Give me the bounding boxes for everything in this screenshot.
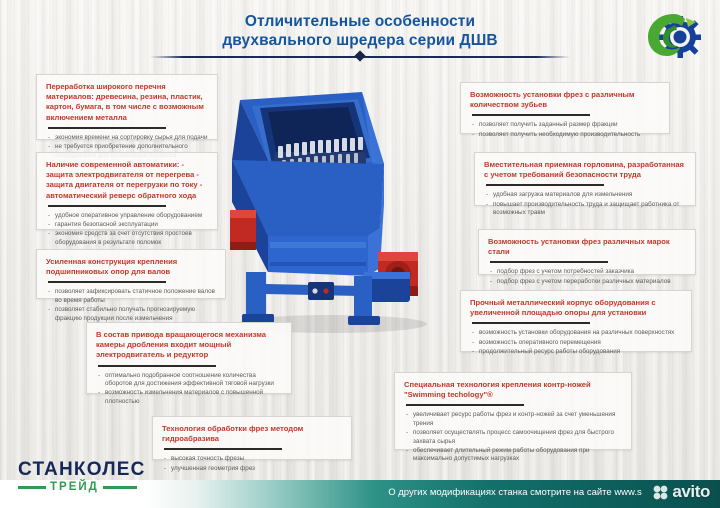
feature-heading: Технология обработки фрез методом гидроа…	[162, 424, 342, 444]
list-item: позволяет зафиксировать статичное положе…	[46, 288, 216, 305]
company-logo: СТАНКОЛЕС ТРЕЙД	[18, 460, 218, 500]
heading-underline	[472, 322, 590, 324]
company-subtitle-row: ТРЕЙД	[18, 481, 218, 493]
feature-bullet-list: подбор фрез с учетом потребностей заказч…	[488, 268, 686, 286]
footer-website-note: О других модификациях станка смотрите на…	[330, 486, 700, 500]
feature-heading: В состав привода вращающегося механизма …	[96, 330, 282, 361]
twin-shaft-shredder-illustration	[212, 86, 452, 336]
page-title-line1: Отличительные особенности	[140, 12, 580, 31]
feature-heading: Вместительная приемная горловина, разраб…	[484, 160, 686, 180]
heading-underline	[406, 404, 524, 406]
feature-heading: Усиленная конструкция крепления подшипни…	[46, 257, 216, 277]
list-item: гарантия безопасной эксплуатации	[46, 221, 208, 230]
feature-box-bearings: Усиленная конструкция крепления подшипни…	[36, 249, 226, 299]
feature-heading: Возможность установки фрез с различным к…	[470, 90, 660, 110]
company-subtitle: ТРЕЙД	[50, 481, 99, 493]
page-header: Отличительные особенности двухвального ш…	[0, 0, 720, 66]
company-name: СТАНКОЛЕС	[18, 460, 218, 480]
feature-heading: Специальная технология крепления контр-н…	[404, 380, 622, 400]
heading-underline	[98, 365, 216, 367]
title-diamond-ornament	[354, 50, 365, 61]
feature-heading: Наличие современной автоматики: - защита…	[46, 160, 208, 201]
heading-underline	[48, 127, 166, 129]
list-item: экономия времени на сортировку сырья для…	[46, 134, 208, 143]
feature-box-cutter-teeth-count: Возможность установки фрез с различным к…	[460, 82, 670, 134]
list-item: позволяет получить необходимую производи…	[470, 131, 660, 140]
avito-watermark: avito	[652, 482, 710, 502]
list-item: оптимально подобранное соотношение колич…	[96, 372, 282, 389]
list-item: позволяет осуществлять процесс самоочище…	[404, 429, 622, 446]
feature-bullet-list: удобная загрузка материалов для измельче…	[484, 191, 686, 217]
list-item: подбор фрез с учетом потребностей заказч…	[488, 268, 686, 277]
list-item: подбор фрез с учетом переработки различн…	[488, 278, 686, 287]
list-item: удобная загрузка материалов для измельче…	[484, 191, 686, 200]
list-item: позволяет стабильно получать прогнозируе…	[46, 306, 216, 323]
feature-bullet-list: увеличивает ресурс работы фрез и контр-н…	[404, 411, 622, 464]
heading-underline	[472, 114, 590, 116]
list-item: возможность измельчения материалов с пов…	[96, 389, 282, 406]
feature-heading: Возможность установки фрез различных мар…	[488, 237, 686, 257]
brand-rule-right	[103, 486, 137, 489]
page-title: Отличительные особенности двухвального ш…	[140, 12, 580, 50]
feature-box-materials: Переработка широкого перечня материалов:…	[36, 74, 218, 140]
heading-underline	[48, 205, 166, 207]
heading-underline	[164, 448, 282, 450]
feature-heading: Переработка широкого перечня материалов:…	[46, 82, 208, 123]
feature-bullet-list: возможность установки оборудования на ра…	[470, 329, 682, 356]
heading-underline	[48, 281, 166, 283]
heading-underline	[486, 184, 604, 186]
feature-bullet-list: позволяет получить заданный размер фракц…	[470, 121, 660, 139]
list-item: экономия средств за счет отсутствия прос…	[46, 230, 208, 247]
list-item: возможность установки оборудования на ра…	[470, 329, 682, 338]
heading-underline	[490, 261, 608, 263]
list-item: возможность оперативного перемещения	[470, 339, 682, 348]
feature-box-metal-frame: Прочный металлический корпус оборудовани…	[460, 290, 692, 352]
list-item: увеличивает ресурс работы фрез и контр-н…	[404, 411, 622, 428]
feature-bullet-list: позволяет зафиксировать статичное положе…	[46, 288, 216, 323]
gear-swirl-logo-icon	[644, 8, 706, 60]
feature-box-hydroabrasive: Технология обработки фрез методом гидроа…	[152, 416, 352, 460]
list-item: продолжительный ресурс работы оборудован…	[470, 348, 682, 357]
feature-box-drive: В состав привода вращающегося механизма …	[86, 322, 292, 394]
list-item: удобное оперативное управление оборудова…	[46, 212, 208, 221]
feature-bullet-list: удобное оперативное управление оборудова…	[46, 212, 208, 247]
feature-box-automation: Наличие современной автоматики: - защита…	[36, 152, 218, 230]
list-item: позволяет получить заданный размер фракц…	[470, 121, 660, 130]
avito-circles-icon	[652, 484, 669, 501]
avito-wordmark: avito	[672, 482, 710, 502]
list-item: повышает производительность труда и защи…	[484, 201, 686, 218]
brand-rule-left	[18, 486, 46, 489]
list-item: обеспечивает длительный режим работы обо…	[404, 447, 622, 464]
feature-heading: Прочный металлический корпус оборудовани…	[470, 298, 682, 318]
feature-bullet-list: оптимально подобранное соотношение колич…	[96, 372, 282, 407]
feature-box-swimming-technology: Специальная технология крепления контр-н…	[394, 372, 632, 450]
page-title-line2: двухвального шредера серии ДШВ	[140, 31, 580, 50]
feature-box-steel-grades: Возможность установки фрез различных мар…	[478, 229, 696, 275]
feature-box-hopper: Вместительная приемная горловина, разраб…	[474, 152, 696, 206]
